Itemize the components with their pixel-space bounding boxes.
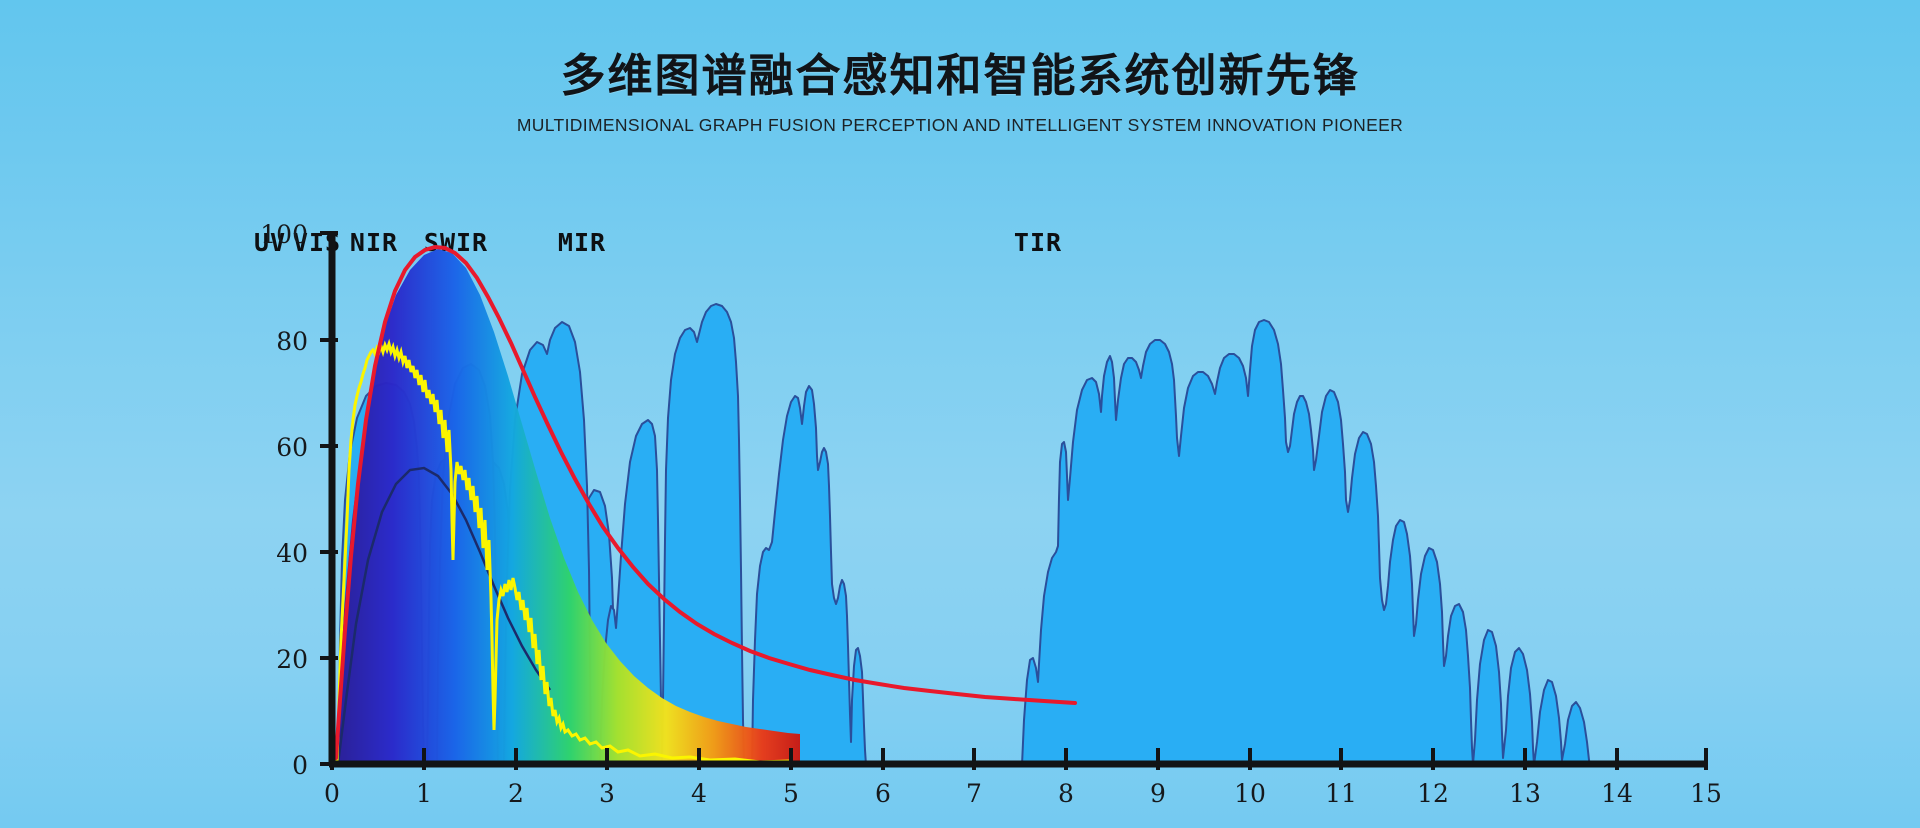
x-tick-label-15: 15 [1690,779,1722,808]
x-tick-label-10: 10 [1234,779,1266,808]
x-tick-label-9: 9 [1150,779,1166,808]
x-tick-label-5: 5 [783,779,799,808]
x-tick-label-3: 3 [599,779,615,808]
transmission-window-mir-2 [752,386,866,765]
x-tick-label-2: 2 [508,779,524,808]
x-tick-label-0: 0 [324,779,340,808]
x-axis-labels: 0 1 2 3 4 5 6 7 8 9 10 11 12 13 14 15 [324,779,1722,808]
x-tick-label-11: 11 [1325,779,1357,808]
y-tick-label-40: 40 [276,539,308,568]
x-tick-label-7: 7 [966,779,982,808]
x-tick-label-14: 14 [1601,779,1633,808]
y-tick-label-80: 80 [276,327,308,356]
y-tick-label-60: 60 [276,433,308,462]
transmission-window-tir [1022,320,1590,765]
y-tick-label-20: 20 [276,645,308,674]
x-tick-label-6: 6 [875,779,891,808]
x-tick-label-4: 4 [691,779,707,808]
y-tick-label-0: 0 [292,751,308,780]
x-tick-label-12: 12 [1417,779,1449,808]
poster-root: 多维图谱融合感知和智能系统创新先锋 MULTIDIMENSIONAL GRAPH… [0,0,1920,828]
x-tick-label-8: 8 [1058,779,1074,808]
y-tick-label-100: 100 [260,220,308,249]
x-tick-label-13: 13 [1509,779,1541,808]
x-tick-label-1: 1 [416,779,432,808]
spectrum-chart: 100 80 60 40 20 0 0 1 2 3 4 5 6 7 8 9 10… [0,0,1920,828]
y-axis-labels: 100 80 60 40 20 0 [260,220,308,780]
